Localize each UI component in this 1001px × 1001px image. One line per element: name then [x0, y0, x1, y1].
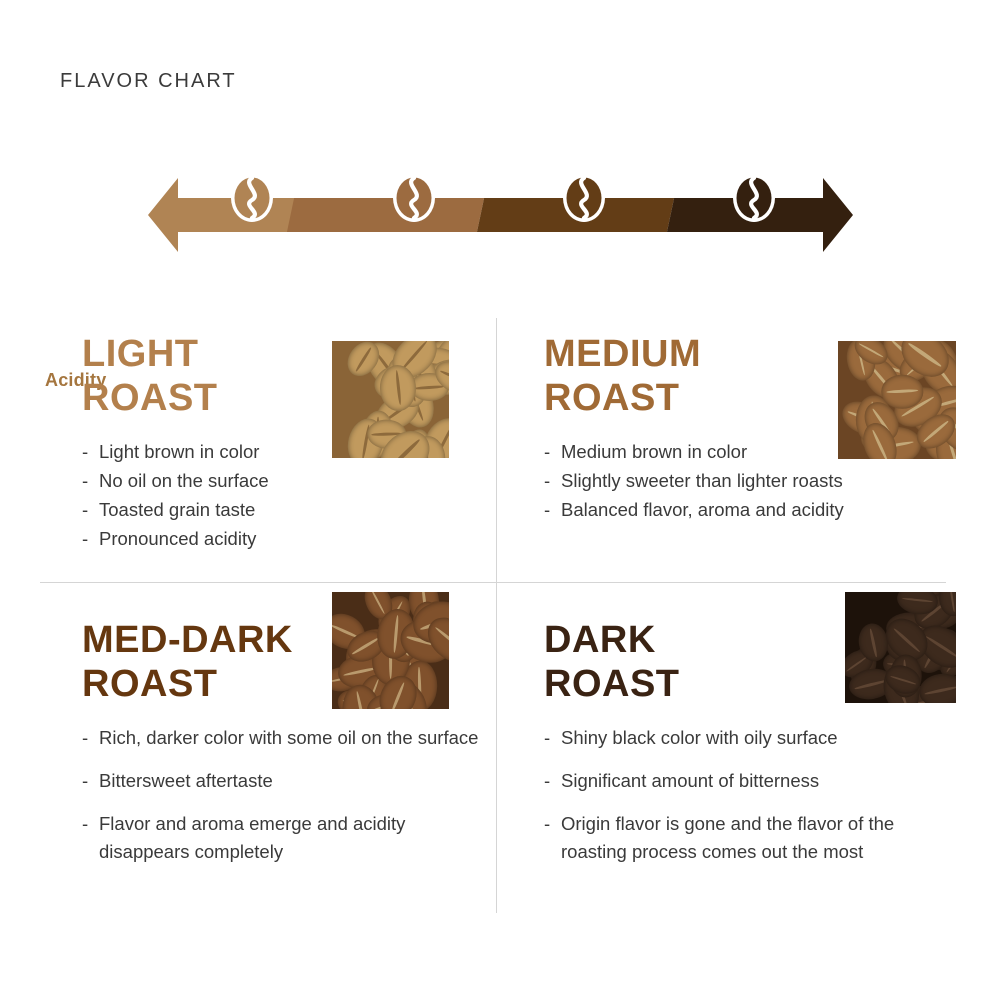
list-item: Shiny black color with oily surface: [544, 724, 954, 752]
page-title: FLAVOR CHART: [60, 70, 237, 93]
coffee-bean-icon: [231, 174, 273, 222]
list-item: Origin flavor is gone and the flavor of …: [544, 810, 954, 866]
divider-horizontal: [40, 582, 946, 583]
roast-scale-graphic: [0, 160, 1001, 275]
list-item: Slightly sweeter than lighter roasts: [544, 467, 954, 495]
list-item: Balanced flavor, aroma and acidity: [544, 496, 954, 524]
medium-roast-beans-photo: [838, 341, 956, 459]
list-item: Bittersweet aftertaste: [82, 767, 482, 795]
segment-medium-fill: [280, 170, 490, 265]
list-item: Pronounced acidity: [82, 525, 482, 553]
list-item: Toasted grain taste: [82, 496, 482, 524]
list-item: Flavor and aroma emerge and acidity disa…: [82, 810, 482, 866]
list-item: Rich, darker color with some oil on the …: [82, 724, 482, 752]
coffee-bean-icon: [393, 174, 435, 222]
dark-roast-beans-photo: [845, 592, 956, 703]
coffee-bean-icon: [733, 174, 775, 222]
list-item: Significant amount of bitterness: [544, 767, 954, 795]
roast-scale: Acidity Bitterness LIGHT MEDIUM MED-DARK…: [0, 160, 1001, 275]
segment-light-fill: [140, 170, 315, 265]
bullet-list-dark-roast: Shiny black color with oily surface Sign…: [544, 724, 954, 866]
list-item: No oil on the surface: [82, 467, 482, 495]
bullet-list-med-dark-roast: Rich, darker color with some oil on the …: [82, 724, 482, 866]
coffee-bean-icon: [563, 174, 605, 222]
divider-vertical-bottom: [496, 583, 497, 913]
light-roast-beans-photo: [332, 341, 449, 458]
divider-vertical-top: [496, 318, 497, 582]
med-dark-roast-beans-photo: [332, 592, 449, 709]
